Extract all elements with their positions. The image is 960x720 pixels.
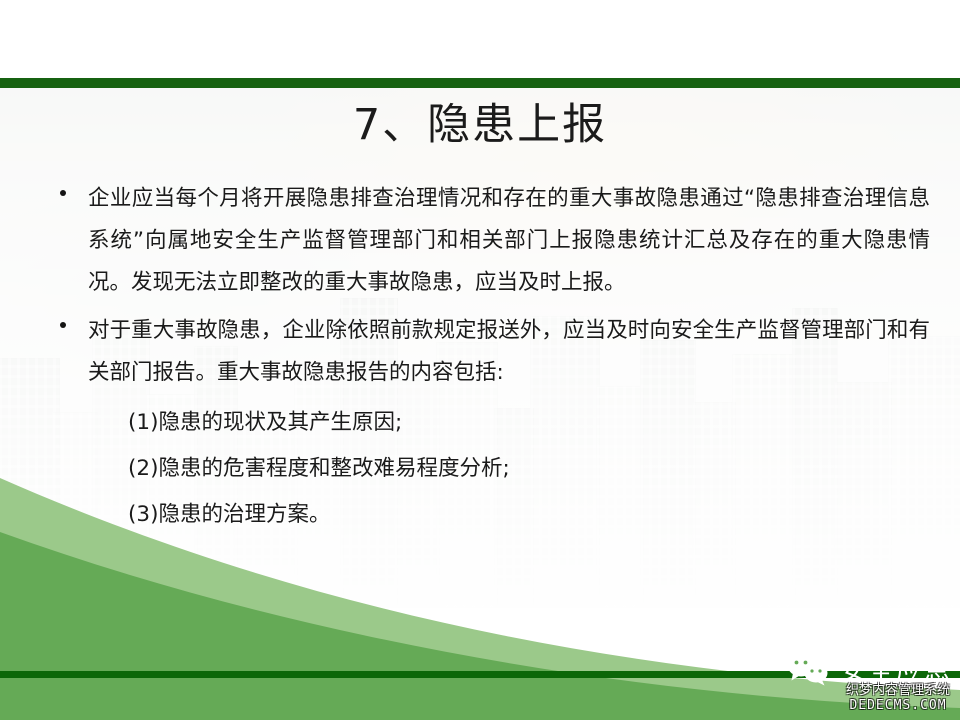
list-item: (1)隐患的现状及其产生原因; — [0, 400, 960, 446]
watermark-line-2: DEDECMS.COM — [836, 699, 960, 714]
top-accent-rule — [0, 78, 960, 88]
bullet-marker-icon — [60, 190, 66, 196]
dedecms-watermark: 织梦内容管理系统 DEDECMS.COM — [836, 684, 960, 713]
list-item: (3)隐患的治理方案。 — [0, 492, 960, 538]
wechat-icon — [786, 652, 830, 686]
list-item: (2)隐患的危害程度和整改难易程度分析; — [0, 446, 960, 492]
bullet-paragraph-text: 企业应当每个月将开展隐患排查治理情况和存在的重大事故隐患通过“隐患排查治理信息系… — [88, 178, 930, 304]
bullet-paragraph-text: 对于重大事故隐患，企业除依照前款规定报送外，应当及时向安全生产监督管理部门和有关… — [88, 310, 930, 394]
slide-title: 7、隐患上报 — [0, 100, 960, 152]
bullet-marker-icon — [60, 322, 66, 328]
wechat-label: 安全应急 — [840, 650, 952, 687]
wechat-badge: 安全应急 — [786, 650, 952, 687]
presentation-slide: 7、隐患上报 企业应当每个月将开展隐患排查治理情况和存在的重大事故隐患通过“隐患… — [0, 0, 960, 720]
slide-body: 企业应当每个月将开展隐患排查治理情况和存在的重大事故隐患通过“隐患排查治理信息系… — [0, 178, 960, 538]
bullet-paragraph: 企业应当每个月将开展隐患排查治理情况和存在的重大事故隐患通过“隐患排查治理信息系… — [0, 178, 960, 304]
bullet-paragraph: 对于重大事故隐患，企业除依照前款规定报送外，应当及时向安全生产监督管理部门和有关… — [0, 310, 960, 394]
watermark-line-1: 织梦内容管理系统 — [836, 684, 960, 699]
